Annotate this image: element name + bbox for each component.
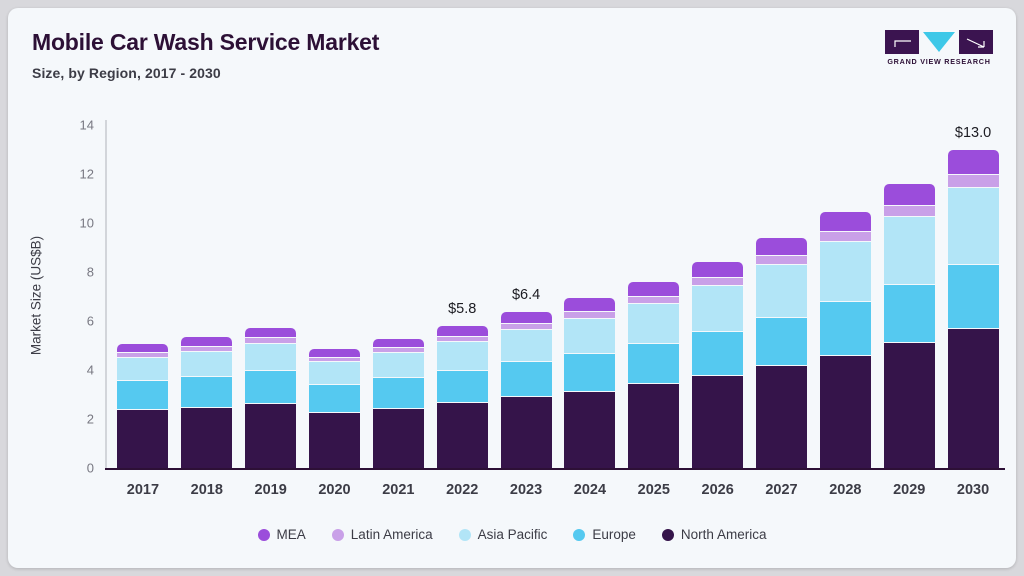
stacked-bar[interactable] xyxy=(373,339,424,468)
bar-group[interactable]: 2029 xyxy=(884,8,935,568)
bar-segment[interactable] xyxy=(628,343,679,383)
bar-segment[interactable] xyxy=(117,380,168,410)
bar-segment[interactable] xyxy=(373,377,424,408)
x-axis-tick-label: 2025 xyxy=(628,482,679,498)
bar-segment[interactable] xyxy=(628,282,679,296)
x-axis-tick-label: 2022 xyxy=(437,482,488,498)
legend-item[interactable]: MEA xyxy=(258,527,306,542)
x-axis-tick-label: 2027 xyxy=(756,482,807,498)
bar-segment[interactable] xyxy=(501,396,552,468)
bar-segment[interactable] xyxy=(437,370,488,403)
bar-segment[interactable] xyxy=(884,284,935,343)
bar-segment[interactable] xyxy=(181,407,232,468)
y-axis-tick-label: 2 xyxy=(60,412,94,427)
legend-item[interactable]: Latin America xyxy=(332,527,433,542)
bar-segment[interactable] xyxy=(437,336,488,341)
bar-segment[interactable] xyxy=(181,346,232,351)
bar-segment[interactable] xyxy=(756,365,807,468)
bar-segment[interactable] xyxy=(245,403,296,468)
bar-group[interactable]: 2025 xyxy=(628,8,679,568)
bar-group[interactable]: 2028 xyxy=(820,8,871,568)
stacked-bar[interactable] xyxy=(948,150,999,468)
x-axis-tick-label: 2026 xyxy=(692,482,743,498)
y-axis-tick-label: 6 xyxy=(60,314,94,329)
bar-segment[interactable] xyxy=(309,412,360,468)
bar-group[interactable]: 2024 xyxy=(564,8,615,568)
bar-group[interactable]: 2022$5.8 xyxy=(437,8,488,568)
bar-group[interactable]: 2021 xyxy=(373,8,424,568)
bar-group[interactable]: 2020 xyxy=(309,8,360,568)
bar-segment[interactable] xyxy=(309,361,360,384)
bar-segment[interactable] xyxy=(501,323,552,329)
chart-card: Mobile Car Wash Service Market Size, by … xyxy=(8,8,1016,568)
legend-item-label: Latin America xyxy=(351,527,433,542)
bar-segment[interactable] xyxy=(117,357,168,380)
bar-segment[interactable] xyxy=(692,285,743,331)
bar-group[interactable]: 2027 xyxy=(756,8,807,568)
bar-segment[interactable] xyxy=(181,351,232,376)
bar-segment[interactable] xyxy=(437,402,488,468)
y-axis-tick-label: 8 xyxy=(60,265,94,280)
bar-segment[interactable] xyxy=(948,264,999,327)
bar-segment[interactable] xyxy=(437,326,488,336)
stacked-bar[interactable] xyxy=(117,344,168,468)
bar-value-label: $13.0 xyxy=(942,125,1003,141)
y-axis-tick-label: 12 xyxy=(60,167,94,182)
legend-item[interactable]: Asia Pacific xyxy=(459,527,548,542)
legend-swatch-icon xyxy=(662,529,674,541)
bar-segment[interactable] xyxy=(692,277,743,285)
bar-segment[interactable] xyxy=(501,361,552,396)
bar-group[interactable]: 2018 xyxy=(181,8,232,568)
bar-segment[interactable] xyxy=(948,328,999,468)
bar-segment[interactable] xyxy=(820,231,871,241)
bar-segment[interactable] xyxy=(373,352,424,377)
bar-segment[interactable] xyxy=(564,298,615,310)
bar-group[interactable]: 2017 xyxy=(117,8,168,568)
bar-segment[interactable] xyxy=(948,174,999,186)
legend-item-label: MEA xyxy=(277,527,306,542)
bar-segment[interactable] xyxy=(756,238,807,255)
y-axis-tick-label: 10 xyxy=(60,216,94,231)
bar-segment[interactable] xyxy=(756,317,807,366)
bar-group[interactable]: 2030$13.0 xyxy=(948,8,999,568)
bar-segment[interactable] xyxy=(245,343,296,370)
x-axis-tick-label: 2030 xyxy=(948,482,999,498)
stacked-bar[interactable] xyxy=(628,282,679,468)
bar-segment[interactable] xyxy=(501,312,552,323)
bar-segment[interactable] xyxy=(884,205,935,216)
bar-segment[interactable] xyxy=(501,329,552,361)
bar-segment[interactable] xyxy=(692,331,743,375)
x-axis-tick-label: 2017 xyxy=(117,482,168,498)
bar-segment[interactable] xyxy=(245,337,296,343)
bar-segment[interactable] xyxy=(564,318,615,353)
bar-segment[interactable] xyxy=(181,376,232,408)
bar-segment[interactable] xyxy=(564,391,615,468)
bar-segment[interactable] xyxy=(820,301,871,355)
bar-segment[interactable] xyxy=(884,184,935,205)
legend-swatch-icon xyxy=(332,529,344,541)
legend-swatch-icon xyxy=(258,529,270,541)
legend-swatch-icon xyxy=(459,529,471,541)
bar-segment[interactable] xyxy=(245,328,296,337)
bar-segment[interactable] xyxy=(820,241,871,301)
bar-segment[interactable] xyxy=(564,311,615,318)
chart-plot-area: Market Size (US$B) 02468101214 201720182… xyxy=(8,8,1016,568)
bar-segment[interactable] xyxy=(181,337,232,345)
y-axis-tick-label: 14 xyxy=(60,118,94,133)
legend-swatch-icon xyxy=(573,529,585,541)
chart-legend: MEALatin AmericaAsia PacificEuropeNorth … xyxy=(8,527,1016,542)
bar-value-label: $5.8 xyxy=(432,301,493,317)
x-axis-tick-label: 2028 xyxy=(820,482,871,498)
bar-segment[interactable] xyxy=(117,409,168,468)
x-axis-tick-label: 2018 xyxy=(181,482,232,498)
bar-segment[interactable] xyxy=(245,370,296,403)
x-axis-tick-label: 2024 xyxy=(564,482,615,498)
bar-value-label: $6.4 xyxy=(495,287,556,303)
y-axis-line xyxy=(105,120,107,468)
x-axis-tick-label: 2019 xyxy=(245,482,296,498)
bar-segment[interactable] xyxy=(564,353,615,391)
bar-segment[interactable] xyxy=(884,216,935,284)
stacked-bar[interactable] xyxy=(309,349,360,468)
bar-segment[interactable] xyxy=(117,352,168,357)
y-axis-title: Market Size (US$B) xyxy=(29,216,44,376)
bar-segment[interactable] xyxy=(309,357,360,361)
x-axis-tick-label: 2020 xyxy=(309,482,360,498)
bar-segment[interactable] xyxy=(884,342,935,468)
y-axis-tick-label: 0 xyxy=(60,461,94,476)
bar-segment[interactable] xyxy=(373,408,424,468)
stacked-bar[interactable] xyxy=(501,312,552,468)
x-axis-tick-label: 2029 xyxy=(884,482,935,498)
bar-segment[interactable] xyxy=(756,264,807,317)
bar-segment[interactable] xyxy=(820,212,871,231)
stacked-bar[interactable] xyxy=(692,262,743,468)
bar-segment[interactable] xyxy=(628,296,679,303)
legend-item[interactable]: Europe xyxy=(573,527,636,542)
stacked-bar[interactable] xyxy=(820,212,871,468)
bar-segment[interactable] xyxy=(628,303,679,343)
legend-item[interactable]: North America xyxy=(662,527,767,542)
bar-segment[interactable] xyxy=(628,383,679,468)
x-axis-tick-label: 2023 xyxy=(501,482,552,498)
bar-segment[interactable] xyxy=(117,344,168,352)
stacked-bar[interactable] xyxy=(437,326,488,468)
legend-item-label: Asia Pacific xyxy=(478,527,548,542)
bar-segment[interactable] xyxy=(309,384,360,412)
stacked-bar[interactable] xyxy=(564,298,615,468)
bar-segment[interactable] xyxy=(820,355,871,468)
bar-segment[interactable] xyxy=(692,375,743,468)
bar-segment[interactable] xyxy=(437,341,488,369)
bar-segment[interactable] xyxy=(756,255,807,264)
bar-segment[interactable] xyxy=(692,262,743,277)
stacked-bar[interactable] xyxy=(756,238,807,468)
bar-segment[interactable] xyxy=(309,349,360,357)
bar-segment[interactable] xyxy=(948,150,999,174)
bar-group[interactable]: 2026 xyxy=(692,8,743,568)
bar-group[interactable]: 2023$6.4 xyxy=(501,8,552,568)
legend-item-label: North America xyxy=(681,527,767,542)
legend-item-label: Europe xyxy=(592,527,636,542)
bar-segment[interactable] xyxy=(373,347,424,352)
x-axis-tick-label: 2021 xyxy=(373,482,424,498)
y-axis-tick-label: 4 xyxy=(60,363,94,378)
bar-group[interactable]: 2019 xyxy=(245,8,296,568)
bar-segment[interactable] xyxy=(948,187,999,264)
stacked-bar[interactable] xyxy=(245,328,296,468)
stacked-bar[interactable] xyxy=(884,184,935,468)
bar-segment[interactable] xyxy=(373,339,424,347)
stacked-bar[interactable] xyxy=(181,337,232,468)
